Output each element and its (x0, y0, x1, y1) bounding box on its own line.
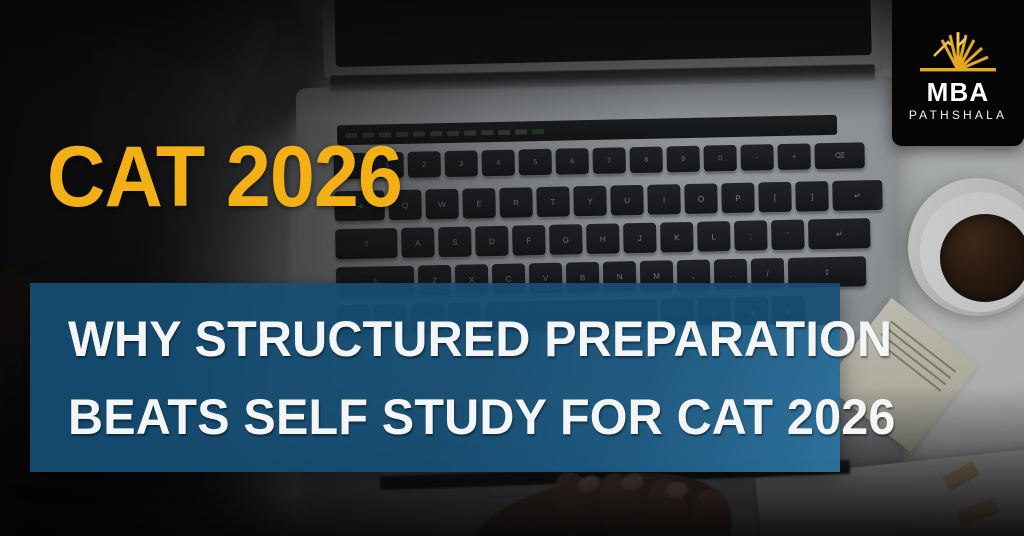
logo-subbrand-text: PATHSHALA (909, 108, 1007, 122)
kicker-cat-2026: CAT 2026 (47, 134, 402, 220)
sunburst-fan-icon (914, 26, 1002, 72)
brand-logo[interactable]: MBA PATHSHALA (892, 0, 1024, 146)
top-shade-overlay (0, 0, 1024, 120)
headline-line-2: BEATS SELF STUDY FOR CAT 2026 (68, 378, 817, 456)
logo-brand-text: MBA (927, 79, 990, 105)
cat-2026-promo-banner: ~1234567890-+⌫ ⇥QWERTYUIOP[]↵ ⇪ASDFGHJKL… (0, 0, 1024, 536)
headline-banner: WHY STRUCTURED PREPARATION BEATS SELF ST… (30, 283, 840, 472)
headline-line-1: WHY STRUCTURED PREPARATION (68, 300, 817, 378)
